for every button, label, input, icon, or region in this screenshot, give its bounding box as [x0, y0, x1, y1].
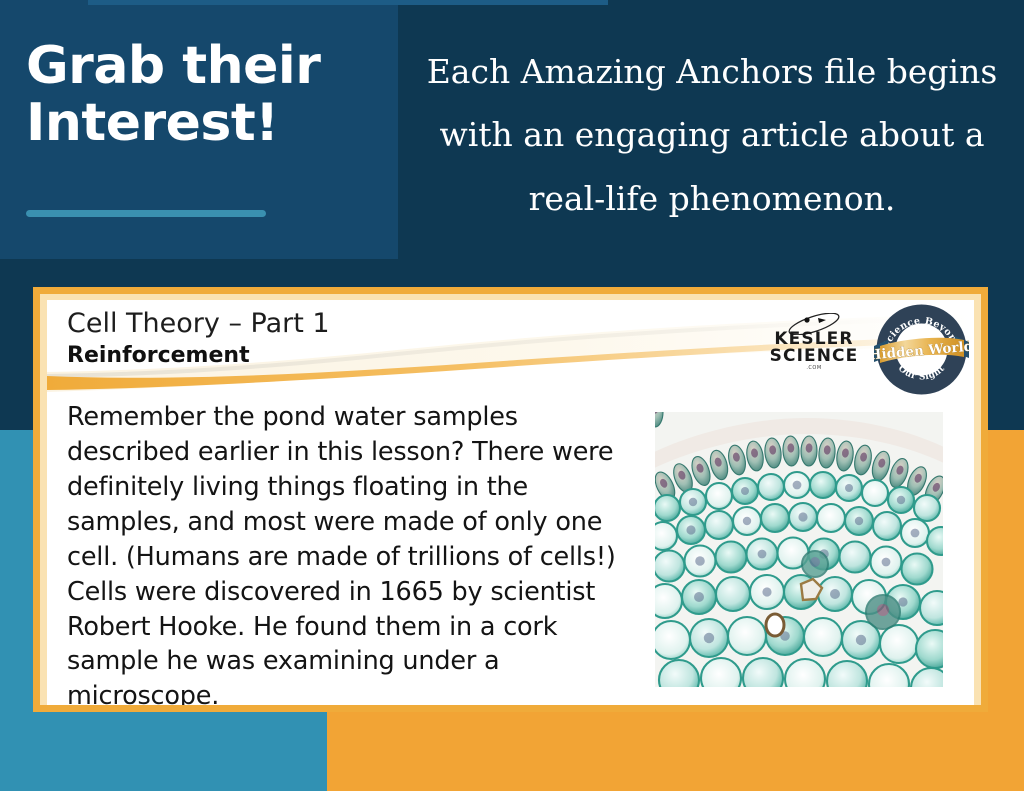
- page-title-line-2: Interest!: [26, 95, 386, 152]
- hidden-world-badge: Science Beyond Our Sight Hidden World: [874, 302, 969, 397]
- page-title: Grab their Interest!: [26, 38, 386, 152]
- kesler-logo-line-2: SCIENCE: [760, 348, 868, 365]
- badge-graphic: Science Beyond Our Sight Hidden World: [874, 302, 969, 397]
- worksheet-body-text: Remember the pond water samples describe…: [67, 400, 642, 705]
- kesler-logo-text: KESLER SCIENCE: [760, 331, 868, 366]
- worksheet-title: Cell Theory – Part 1: [67, 308, 330, 340]
- intro-paragraph: Each Amazing Anchors file begins with an…: [412, 40, 1012, 230]
- worksheet-header-text: Cell Theory – Part 1 Reinforcement: [67, 308, 330, 370]
- worksheet-subtitle: Reinforcement: [67, 342, 330, 370]
- page-title-line-1: Grab their: [26, 36, 320, 96]
- slide-canvas: Grab their Interest! Each Amazing Anchor…: [0, 0, 1024, 791]
- kesler-logo-domain: .COM: [760, 365, 868, 371]
- title-underline-accent: [26, 210, 266, 217]
- kesler-science-logo: KESLER SCIENCE .COM: [760, 313, 868, 373]
- micrograph-figure: [655, 412, 943, 687]
- micrograph-image: [655, 412, 943, 687]
- worksheet-card: Cell Theory – Part 1 Reinforcement KESLE…: [47, 300, 974, 705]
- top-accent-strip: [88, 0, 608, 5]
